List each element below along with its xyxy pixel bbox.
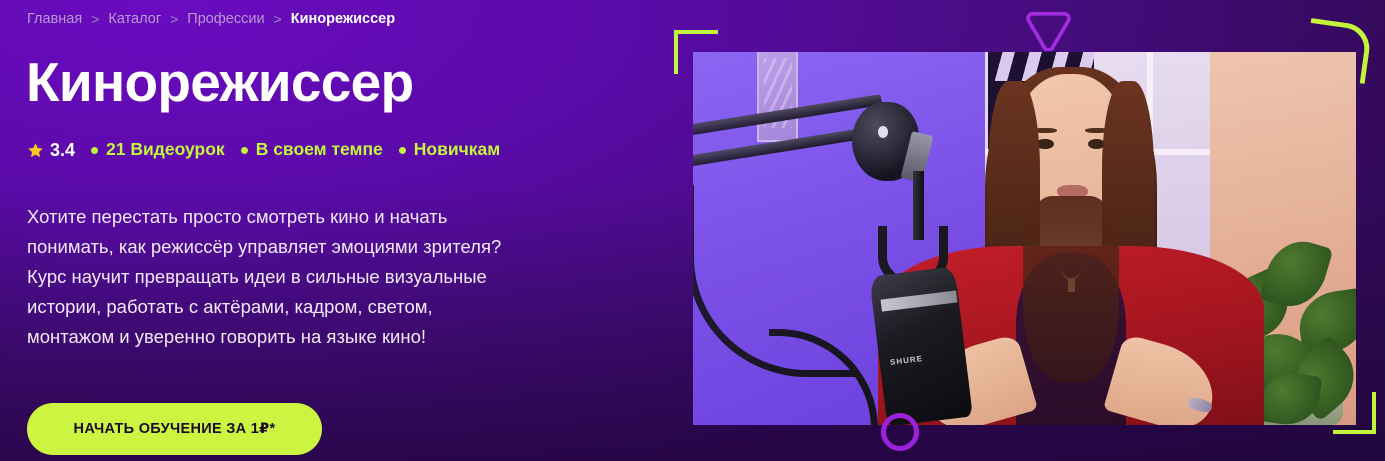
mic-cable xyxy=(769,329,877,425)
shure-microphone xyxy=(869,266,973,425)
breadcrumb-separator-icon: > xyxy=(274,12,282,26)
breadcrumb-separator-icon: > xyxy=(91,12,99,26)
breadcrumb-item-professions[interactable]: Профессии xyxy=(187,12,264,27)
presenter-hair-front xyxy=(1023,196,1120,382)
course-hero-page: Главная > Каталог > Профессии > Кинорежи… xyxy=(0,0,1385,461)
course-video-thumbnail[interactable]: SHURE xyxy=(693,52,1356,425)
meta-item-pace-label: В своем темпе xyxy=(256,141,383,159)
breadcrumb-separator-icon: > xyxy=(170,12,178,26)
rating-value: 3.4 xyxy=(50,141,75,159)
meta-item-lessons-label: 21 Видеоурок xyxy=(106,141,225,159)
bullet-icon xyxy=(241,147,248,154)
hero-left-column: Главная > Каталог > Профессии > Кинорежи… xyxy=(0,0,660,461)
bullet-icon xyxy=(399,147,406,154)
breadcrumb-item-catalog[interactable]: Каталог xyxy=(108,12,161,27)
start-course-button[interactable]: НАЧАТЬ ОБУЧЕНИЕ ЗА 1₽* xyxy=(27,403,322,455)
breadcrumb: Главная > Каталог > Профессии > Кинорежи… xyxy=(27,12,395,27)
breadcrumb-item-home[interactable]: Главная xyxy=(27,12,82,27)
meta-item-pace: В своем темпе xyxy=(241,141,383,159)
meta-item-lessons: 21 Видеоурок xyxy=(91,141,225,159)
course-meta-row: 3.4 21 Видеоурок В своем темпе Новичкам xyxy=(27,141,516,159)
microphone-boom-arm: SHURE xyxy=(693,82,1011,425)
meta-item-level: Новичкам xyxy=(399,141,500,159)
video-scene: SHURE xyxy=(693,52,1356,425)
star-icon xyxy=(27,142,44,159)
bullet-icon xyxy=(91,147,98,154)
hero-media-column: SHURE xyxy=(660,0,1385,461)
breadcrumb-item-current: Кинорежиссер xyxy=(291,12,395,27)
page-title: Кинорежиссер xyxy=(26,54,413,112)
course-description: Хотите перестать просто смотреть кино и … xyxy=(27,202,517,352)
meta-item-level-label: Новичкам xyxy=(414,141,500,159)
